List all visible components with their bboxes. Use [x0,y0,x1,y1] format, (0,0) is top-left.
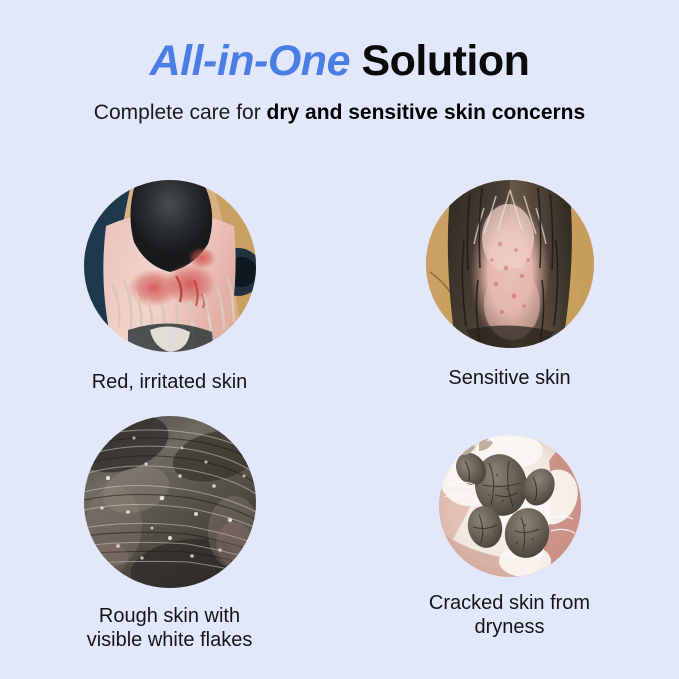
dog-coat-dandruff-white-flakes-photo [84,416,256,588]
card-caption: Sensitive skin [340,366,679,390]
condition-card-red-irritated-skin: Red, irritated skin [0,180,339,394]
page-subtitle: Complete care for dry and sensitive skin… [0,100,679,126]
page-title-plain: Solution [361,37,529,85]
page-subtitle-plain: Complete care for [94,101,267,124]
condition-card-cracked-skin-dryness: Cracked skin from dryness [340,416,679,639]
card-caption: Red, irritated skin [0,370,339,394]
card-caption-line-1: Red, irritated skin [20,370,319,394]
card-caption-line-1: Rough skin with [20,604,319,628]
header: All-in-One Solution Complete care for dr… [0,0,679,126]
page-title-space [350,37,361,85]
condition-card-rough-skin-flakes: Rough skin with visible white flakes [0,416,339,652]
condition-grid: Red, irritated skin [0,180,679,670]
page-title-accent: All-in-One [150,37,350,85]
page-title: All-in-One Solution [0,36,679,86]
card-caption-line-1: Sensitive skin [360,366,659,390]
dog-belly-sensitive-pink-skin-photo [426,180,594,348]
card-caption: Rough skin with visible white flakes [0,604,339,652]
card-caption: Cracked skin from dryness [340,591,679,639]
condition-card-sensitive-skin: Sensitive skin [340,180,679,390]
page-subtitle-bold: dry and sensitive skin concerns [267,101,586,124]
card-caption-line-1: Cracked skin from [360,591,659,615]
card-caption-line-2: visible white flakes [20,628,319,652]
card-caption-line-2: dryness [360,615,659,639]
dog-paw-pads-cracked-dry-photo [439,435,581,577]
dog-muzzle-red-irritated-skin-photo [84,180,256,352]
